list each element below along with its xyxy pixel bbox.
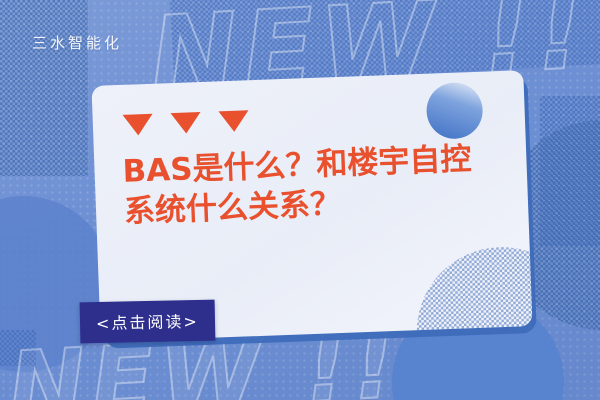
halftone-block-left-small <box>0 330 36 366</box>
brand-logo-text: 三水智能化 <box>32 32 122 53</box>
poster-canvas: NEW !! NEW !! NEW !! 三水智能化 BAS是什么？和楼宇自控系… <box>0 0 600 400</box>
triangle-down-icon <box>218 110 249 132</box>
read-more-label: <点击阅读> <box>96 312 199 333</box>
page-title: BAS是什么？和楼宇自控系统什么关系？ <box>122 139 505 232</box>
triangle-bullet-row <box>123 110 250 136</box>
read-more-button[interactable]: <点击阅读> <box>80 300 216 344</box>
triangle-down-icon <box>123 114 154 136</box>
card-gradient-circle <box>426 82 484 140</box>
triangle-down-icon <box>171 112 202 134</box>
halftone-block-right <box>540 96 600 246</box>
